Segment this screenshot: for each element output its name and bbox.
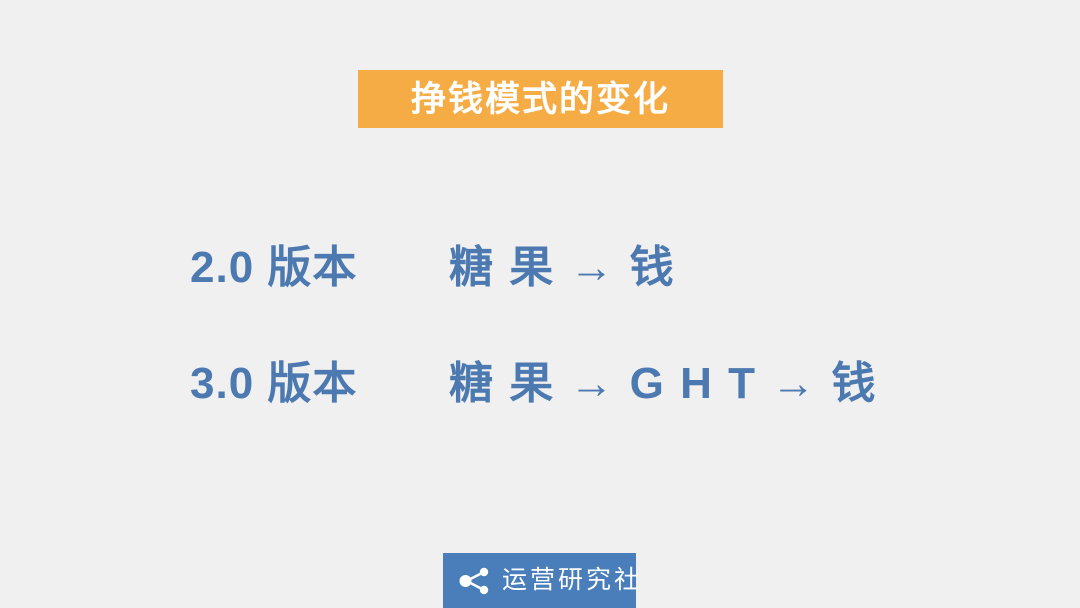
row-value-version-2: 糖 果 → 钱 [449, 236, 676, 300]
footer-brand-badge: 运营研究社 [443, 553, 636, 608]
title-banner: 挣钱模式的变化 [358, 70, 723, 128]
list-item: 2.0 版本 糖 果 → 钱 [0, 236, 1080, 352]
list-item: 3.0 版本 糖 果 → G H T → 钱 [0, 352, 1080, 468]
content-list: 2.0 版本 糖 果 → 钱 3.0 版本 糖 果 → G H T → 钱 [0, 236, 1080, 468]
row-label-version-2: 2.0 版本 [190, 236, 357, 300]
page-title: 挣钱模式的变化 [411, 82, 670, 117]
row-label-version-3: 3.0 版本 [190, 352, 357, 416]
share-nodes-icon [457, 566, 491, 596]
row-value-version-3: 糖 果 → G H T → 钱 [449, 352, 877, 416]
footer-brand-name: 运营研究社 [502, 568, 642, 593]
slide-canvas: 挣钱模式的变化 2.0 版本 糖 果 → 钱 3.0 版本 糖 果 → G H … [0, 0, 1080, 608]
